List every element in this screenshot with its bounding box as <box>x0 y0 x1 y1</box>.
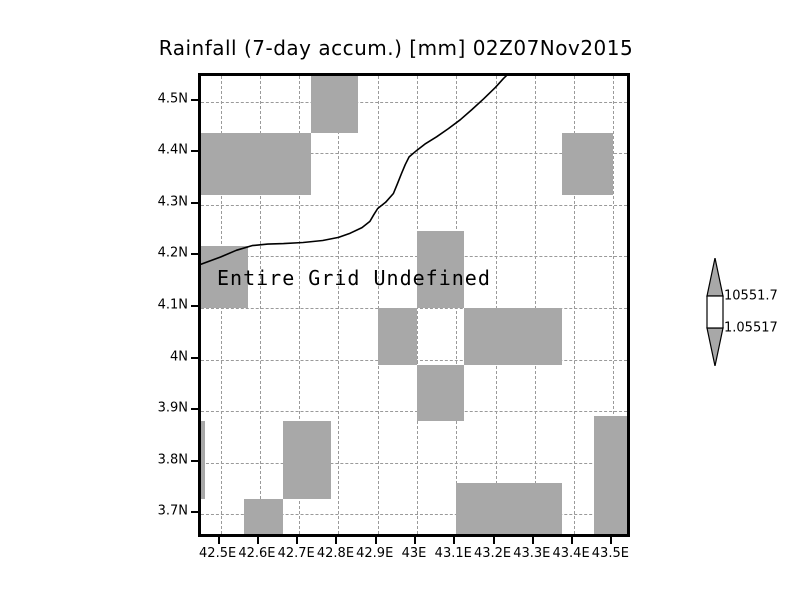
x-axis-tick-label: 42.5E <box>199 546 236 561</box>
x-axis-tick <box>610 537 612 544</box>
gridline-horizontal <box>201 205 627 206</box>
y-axis-tick-label: 4.5N <box>158 91 188 106</box>
y-axis-tick <box>191 460 198 462</box>
x-axis-tick-label: 43.4E <box>552 546 589 561</box>
y-axis-tick <box>191 408 198 410</box>
x-axis-tick-label: 43.5E <box>592 546 629 561</box>
x-axis-tick-label: 43.1E <box>435 546 472 561</box>
cell-upper-right <box>562 133 613 195</box>
x-axis-tick <box>414 537 416 544</box>
y-axis-tick <box>191 253 198 255</box>
gridline-vertical <box>338 76 339 534</box>
y-axis-tick-label: 4.3N <box>158 194 188 209</box>
x-axis-tick-label: 42.8E <box>317 546 354 561</box>
cell-center-lower-arm <box>417 365 464 422</box>
colorbar-shape-icon <box>698 258 732 366</box>
undefined-grid-message: Entire Grid Undefined <box>217 266 491 290</box>
y-axis-tick <box>191 202 198 204</box>
colorbar-lower-label: 1.05517 <box>724 321 778 336</box>
cell-lower-left <box>244 499 283 537</box>
gridline-vertical <box>378 76 379 534</box>
x-axis-tick-label: 42.9E <box>356 546 393 561</box>
plot-inner-canvas: Entire Grid Undefined <box>201 76 627 534</box>
y-axis-tick-label: 3.8N <box>158 452 188 467</box>
y-axis-tick-label: 3.9N <box>158 401 188 416</box>
cell-lower-mid <box>283 421 330 498</box>
x-axis-tick <box>296 537 298 544</box>
gridline-vertical <box>496 76 497 534</box>
y-axis-tick-label: 3.7N <box>158 504 188 519</box>
y-axis-tick-label: 4.1N <box>158 298 188 313</box>
x-axis-tick <box>375 537 377 544</box>
plot-area[interactable]: Entire Grid Undefined <box>198 73 630 537</box>
cell-upper-left-wide <box>201 133 311 195</box>
x-axis-tick-label: 42.7E <box>278 546 315 561</box>
x-axis-tick <box>257 537 259 544</box>
y-axis-tick <box>191 511 198 513</box>
cell-top-center <box>311 73 358 133</box>
y-axis-label-column: 4.5N4.4N4.3N4.2N4.1N4N3.9N3.8N3.7N <box>0 0 188 612</box>
cell-lower-right-wide <box>456 483 562 537</box>
cell-left-edge-strip <box>201 421 205 498</box>
x-axis-tick-label: 43.2E <box>474 546 511 561</box>
x-axis-tick-label: 42.6E <box>238 546 275 561</box>
x-axis-tick <box>493 537 495 544</box>
gridline-horizontal <box>201 463 627 464</box>
gridline-vertical <box>535 76 536 534</box>
cell-center-left-arm <box>378 308 417 365</box>
y-axis-tick-label: 4.4N <box>158 143 188 158</box>
colorbar[interactable]: 10551.7 1.05517 <box>698 258 792 366</box>
colorbar-upper-label: 10551.7 <box>724 289 778 304</box>
x-axis-tick <box>453 537 455 544</box>
x-axis-tick <box>532 537 534 544</box>
x-axis-tick-label: 43E <box>402 546 427 561</box>
y-axis-tick-label: 4N <box>170 349 188 364</box>
gridline-horizontal <box>201 256 627 257</box>
y-axis-tick <box>191 305 198 307</box>
x-axis-tick-label: 43.3E <box>513 546 550 561</box>
gridline-horizontal <box>201 411 627 412</box>
y-axis-tick-label: 4.2N <box>158 246 188 261</box>
y-axis-tick <box>191 150 198 152</box>
x-axis-tick <box>571 537 573 544</box>
y-axis-tick <box>191 357 198 359</box>
gridline-horizontal <box>201 102 627 103</box>
cell-center-right-arm <box>464 308 562 365</box>
y-axis-tick <box>191 99 198 101</box>
cell-lower-far-right <box>594 416 630 537</box>
x-axis-tick <box>335 537 337 544</box>
x-axis-tick <box>218 537 220 544</box>
